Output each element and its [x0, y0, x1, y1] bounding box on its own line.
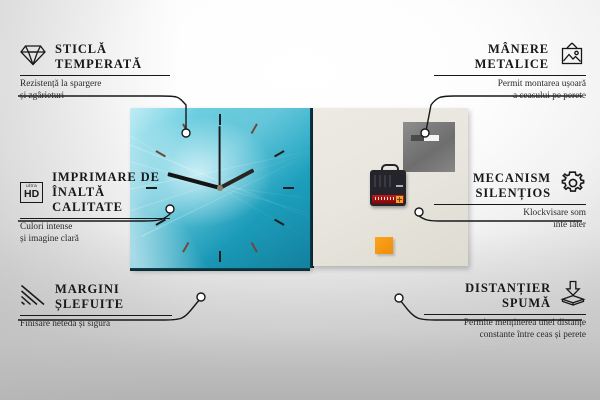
callout-metal-handles: MÂNERE METALICE Permit montarea ușoară a… — [434, 42, 586, 102]
mechanism-dial — [374, 175, 392, 187]
callout-subtitle-line1: Permite menținerea unei distanțe — [424, 318, 586, 330]
callout-title-line2: TEMPERATĂ — [55, 57, 142, 71]
callout-polished-edges: MARGINI ȘLEFUITE Finisare netedă și sigu… — [20, 282, 172, 331]
callout-divider — [434, 204, 586, 205]
clock-tick — [219, 114, 221, 125]
clock-center-cap — [217, 185, 223, 191]
callout-divider — [20, 218, 170, 219]
foam-spacer — [375, 237, 393, 254]
infographic-canvas: STICLĂ TEMPERATĂ Rezistență la spargere … — [0, 0, 600, 400]
callout-subtitle-line2: constante între ceas și perete — [424, 330, 586, 342]
callout-subtitle-line1: Finisare netedă și sigură — [20, 319, 172, 331]
callout-title-line1: IMPRIMARE DE — [52, 170, 160, 184]
callout-subtitle-line1: Permit montarea ușoară — [434, 79, 586, 91]
mechanism-label — [396, 185, 403, 187]
callout-subtitle-line2: a ceasului pe perete — [434, 91, 586, 103]
callout-title-line1: DISTANȚIER — [465, 281, 551, 295]
callout-tempered-glass: STICLĂ TEMPERATĂ Rezistență la spargere … — [20, 42, 170, 102]
callout-title-line2: ÎNALTĂ CALITATE — [52, 185, 123, 214]
callout-subtitle-line1: Klockvisare som — [434, 208, 586, 220]
battery-plus-terminal — [396, 196, 403, 203]
callout-title-line2: ȘLEFUITE — [55, 297, 124, 311]
callout-title-line1: MECANISM — [473, 171, 551, 185]
callout-subtitle-line2: inte låter — [434, 220, 586, 232]
clock-bottom-edge — [130, 268, 310, 271]
callout-title-line1: MÂNERE — [488, 42, 549, 56]
hanging-picture-icon — [558, 42, 586, 72]
callout-title-line2: SPUMĂ — [502, 296, 551, 310]
callout-subtitle-line1: Rezistență la spargere — [20, 79, 170, 91]
metal-hanger — [403, 122, 455, 172]
callout-foam-spacer: DISTANȚIER SPUMĂ Permite menținerea unei… — [424, 280, 586, 341]
mechanism-hook — [381, 164, 399, 174]
battery — [372, 195, 404, 204]
callout-subtitle-line1: Culori intense — [20, 222, 170, 234]
leader-dot-edges — [197, 293, 205, 301]
diamond-icon — [20, 44, 46, 71]
callout-title-line2: SILENȚIOS — [476, 186, 552, 200]
ultra-hd-icon: ultra HD — [20, 182, 43, 202]
ultra-hd-icon-large-text: HD — [24, 189, 39, 200]
callout-high-quality-print: ultra HD IMPRIMARE DE ÎNALTĂ CALITATE Cu… — [20, 170, 170, 245]
callout-divider — [424, 314, 586, 315]
callout-divider — [20, 315, 172, 316]
battery-label — [375, 197, 395, 200]
leader-dot-spacer — [395, 294, 403, 302]
polished-edges-icon — [20, 284, 46, 311]
gear-icon — [560, 170, 586, 201]
clock-tick — [283, 187, 294, 189]
callout-subtitle-line2: și zgârieturi — [20, 91, 170, 103]
clock-mechanism — [370, 170, 406, 206]
clock-tick — [219, 251, 221, 262]
press-down-foam-icon — [560, 280, 586, 311]
callout-title-line1: MARGINI — [55, 282, 120, 296]
callout-title-line1: STICLĂ — [55, 42, 107, 56]
callout-silent-mechanism: MECANISM SILENȚIOS Klockvisare som inte … — [434, 170, 586, 231]
hanger-slot — [411, 135, 439, 141]
clock-second-hand — [219, 126, 221, 188]
callout-subtitle-line2: și imagine clară — [20, 234, 170, 246]
callout-divider — [20, 75, 170, 76]
callout-divider — [434, 75, 586, 76]
callout-title-line2: METALICE — [475, 57, 549, 71]
